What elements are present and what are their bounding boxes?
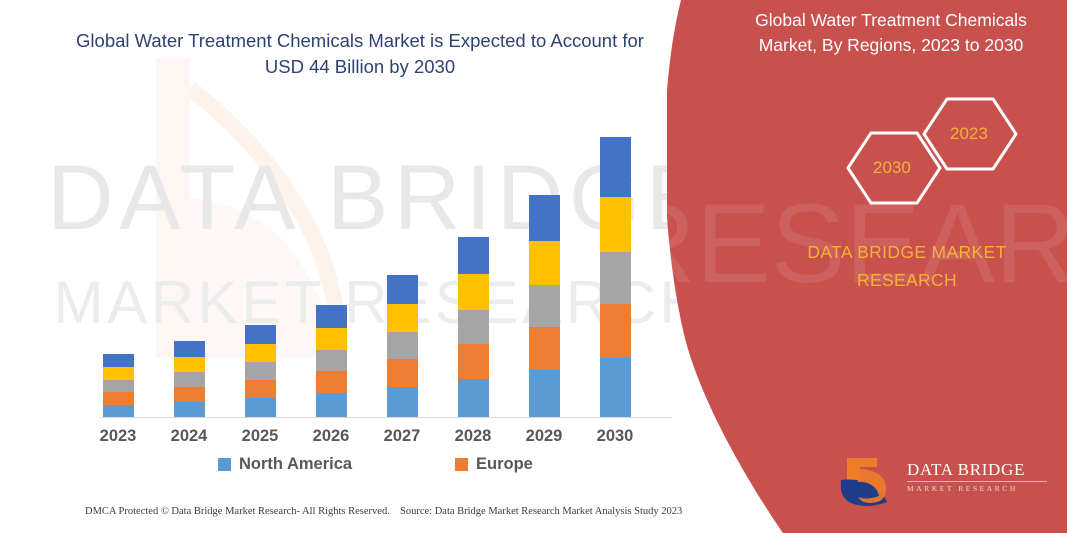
- bar-segment-2025-south-america[interactable]: [245, 344, 276, 362]
- bar-segment-2027-south-america[interactable]: [387, 304, 418, 332]
- bar-2026[interactable]: [316, 305, 347, 418]
- bar-segment-2030-asia-pacific[interactable]: [600, 252, 631, 304]
- bar-segment-2029-asia-pacific[interactable]: [529, 285, 560, 327]
- bar-segment-2028-south-america[interactable]: [458, 274, 489, 310]
- bar-segment-2026-europe[interactable]: [316, 371, 347, 393]
- bar-segment-2027-europe[interactable]: [387, 359, 418, 387]
- red-side-panel: RESEARCH Global Water Treatment Chemical…: [667, 0, 1067, 533]
- chart-panel: DATA BRIDGE MARKET RESEARCH Global Water…: [0, 0, 760, 533]
- bar-segment-2028-asia-pacific[interactable]: [458, 310, 489, 344]
- bar-2029[interactable]: [529, 195, 560, 418]
- brand-line-1: DATA BRIDGE MARKET: [777, 238, 1037, 266]
- x-label-2025: 2025: [225, 427, 295, 446]
- bar-segment-2027-middle-east-and-africa[interactable]: [387, 275, 418, 304]
- legend-swatch-icon: [218, 458, 231, 471]
- bar-2024[interactable]: [174, 341, 205, 418]
- bar-segment-2024-europe[interactable]: [174, 387, 205, 402]
- bar-segment-2024-asia-pacific[interactable]: [174, 372, 205, 387]
- bar-segment-2024-north-america[interactable]: [174, 402, 205, 418]
- bar-2027[interactable]: [387, 275, 418, 418]
- bar-segment-2029-europe[interactable]: [529, 327, 560, 370]
- bar-segment-2023-asia-pacific[interactable]: [103, 380, 134, 392]
- x-label-2026: 2026: [296, 427, 366, 446]
- bar-2028[interactable]: [458, 237, 489, 418]
- bar-segment-2027-north-america[interactable]: [387, 387, 418, 418]
- bar-segment-2030-south-america[interactable]: [600, 197, 631, 252]
- bar-segment-2026-asia-pacific[interactable]: [316, 350, 347, 371]
- bar-2025[interactable]: [245, 325, 276, 418]
- bar-segment-2028-middle-east-and-africa[interactable]: [458, 237, 489, 274]
- plot-area: [100, 120, 680, 418]
- logo-divider: [907, 481, 1047, 482]
- x-label-2028: 2028: [438, 427, 508, 446]
- bar-segment-2029-south-america[interactable]: [529, 241, 560, 285]
- hexagon-shapes: [797, 95, 1037, 210]
- hexagon-2030-label: 2030: [873, 158, 911, 178]
- bar-segment-2023-middle-east-and-africa[interactable]: [103, 354, 134, 367]
- x-label-2029: 2029: [509, 427, 579, 446]
- bar-segment-2028-north-america[interactable]: [458, 379, 489, 418]
- logo-text-block: DATA BRIDGE MARKET RESEARCH: [907, 460, 1052, 493]
- bar-segment-2028-europe[interactable]: [458, 344, 489, 379]
- x-axis-labels: 20232024202520262027202820292030: [100, 427, 680, 453]
- bar-segment-2026-north-america[interactable]: [316, 393, 347, 418]
- bar-segment-2023-south-america[interactable]: [103, 367, 134, 380]
- bar-segment-2025-north-america[interactable]: [245, 398, 276, 418]
- x-label-2030: 2030: [580, 427, 650, 446]
- bar-segment-2024-south-america[interactable]: [174, 357, 205, 372]
- logo-name: DATA BRIDGE: [907, 460, 1052, 479]
- chart-legend: North AmericaEurope: [100, 455, 680, 481]
- brand-line-2: RESEARCH: [777, 266, 1037, 294]
- bar-segment-2029-north-america[interactable]: [529, 370, 560, 418]
- footer-source: Source: Data Bridge Market Research Mark…: [400, 506, 682, 517]
- bar-segment-2030-middle-east-and-africa[interactable]: [600, 137, 631, 197]
- bar-segment-2023-europe[interactable]: [103, 392, 134, 405]
- bar-segment-2025-asia-pacific[interactable]: [245, 362, 276, 380]
- bar-segment-2030-europe[interactable]: [600, 304, 631, 358]
- legend-item-europe[interactable]: Europe: [455, 455, 533, 474]
- hexagon-group: 2023 2030: [797, 95, 1037, 210]
- legend-label: Europe: [476, 455, 533, 474]
- bar-segment-2026-middle-east-and-africa[interactable]: [316, 305, 347, 328]
- x-label-2027: 2027: [367, 427, 437, 446]
- data-bridge-logo: DATA BRIDGE MARKET RESEARCH: [835, 452, 1050, 512]
- logo-subtitle: MARKET RESEARCH: [907, 484, 1052, 493]
- bar-segment-2025-europe[interactable]: [245, 380, 276, 398]
- legend-label: North America: [239, 455, 352, 474]
- x-label-2024: 2024: [154, 427, 224, 446]
- x-axis-line: [100, 417, 672, 418]
- x-label-2023: 2023: [83, 427, 153, 446]
- hexagon-2023-label: 2023: [950, 124, 988, 144]
- bar-segment-2027-asia-pacific[interactable]: [387, 332, 418, 359]
- bar-segment-2026-south-america[interactable]: [316, 328, 347, 350]
- bar-segment-2030-north-america[interactable]: [600, 358, 631, 418]
- bar-segment-2029-middle-east-and-africa[interactable]: [529, 195, 560, 241]
- chart-title: Global Water Treatment Chemicals Market …: [70, 28, 650, 80]
- chart-footer: DMCA Protected © Data Bridge Market Rese…: [0, 506, 720, 528]
- red-panel-title: Global Water Treatment Chemicals Market,…: [735, 8, 1047, 58]
- footer-copyright: DMCA Protected © Data Bridge Market Rese…: [85, 506, 390, 517]
- logo-mark-icon: [835, 452, 901, 508]
- bar-segment-2025-middle-east-and-africa[interactable]: [245, 325, 276, 344]
- bar-2023[interactable]: [103, 354, 134, 418]
- legend-swatch-icon: [455, 458, 468, 471]
- red-panel-brand: DATA BRIDGE MARKET RESEARCH: [777, 238, 1037, 294]
- bar-2030[interactable]: [600, 137, 631, 418]
- bar-segment-2024-middle-east-and-africa[interactable]: [174, 341, 205, 357]
- legend-item-north-america[interactable]: North America: [218, 455, 352, 474]
